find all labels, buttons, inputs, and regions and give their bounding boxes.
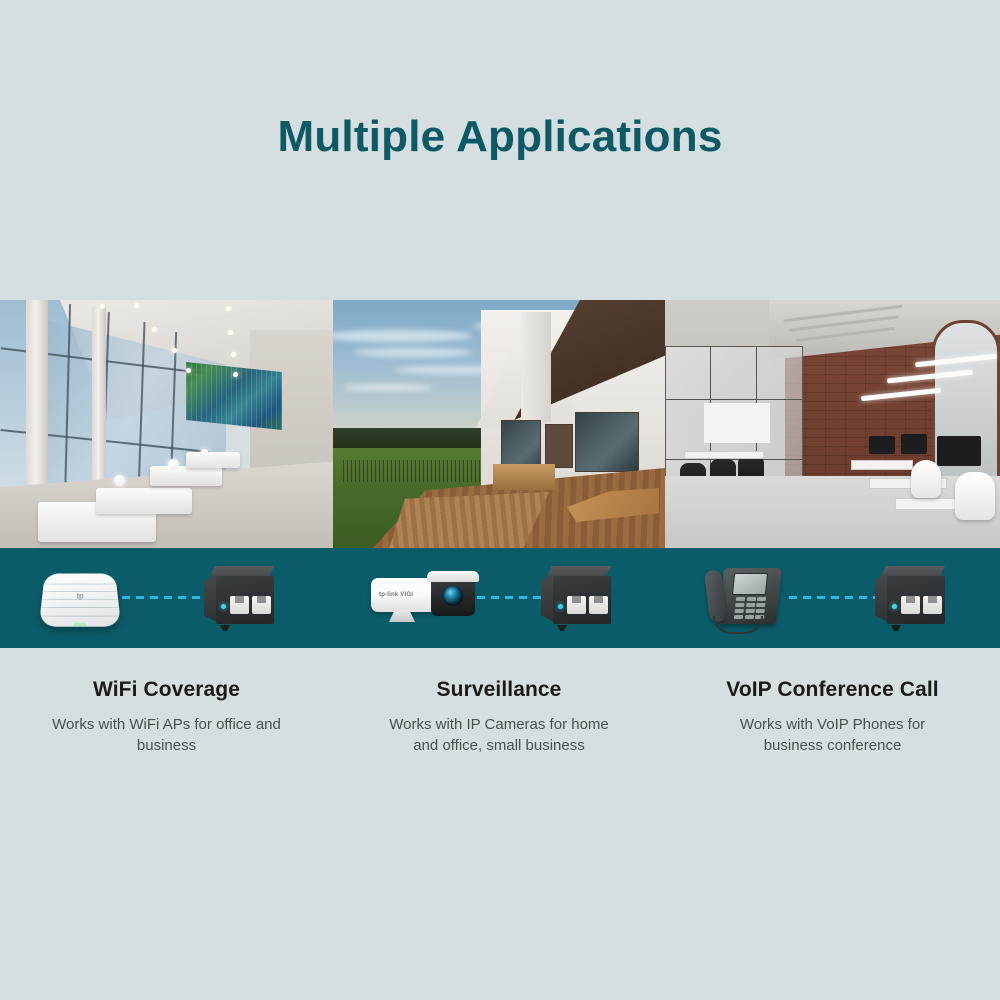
camera-sun-hood	[427, 571, 479, 582]
injector-front-face	[553, 576, 611, 624]
monitor	[901, 434, 927, 454]
bullet-ip-camera: tp-link VIGI	[371, 568, 481, 626]
glass-mullion	[666, 399, 802, 400]
office-chair	[955, 472, 995, 520]
application-photo-strip	[0, 300, 1000, 548]
caption-heading: WiFi Coverage	[0, 678, 333, 702]
ceiling-downlight	[233, 372, 238, 377]
door	[545, 424, 573, 468]
rj45-port	[923, 596, 942, 614]
photo-hotel-lobby-interior	[0, 300, 333, 548]
caption-voip-conference-call: VoIP Conference Call Works with VoIP Pho…	[665, 678, 1000, 756]
column	[26, 300, 48, 510]
tp-link-logo-icon: tp	[77, 591, 84, 600]
vigi-logo-icon: tp-link VIGI	[379, 592, 413, 598]
injector-front-face	[887, 576, 945, 624]
table-lamp	[168, 459, 179, 470]
cloud	[353, 348, 473, 357]
caption-surveillance: Surveillance Works with IP Cameras for h…	[333, 678, 665, 756]
caption-wifi-coverage: WiFi Coverage Works with WiFi APs for of…	[0, 678, 333, 756]
diagram-cell-surveillance: tp-link VIGI	[333, 548, 665, 648]
sofa	[150, 466, 222, 486]
workstation-desk	[851, 460, 913, 470]
photo-loft-office-interior	[665, 300, 1000, 548]
injector-power-led	[558, 604, 563, 609]
caption-heading: Surveillance	[333, 678, 665, 702]
cloud	[343, 384, 433, 391]
office-floor	[665, 476, 1000, 548]
sofa	[96, 488, 192, 514]
diagram-cell-voip	[665, 548, 1000, 648]
ceiling-downlight	[172, 348, 177, 353]
caption-heading: VoIP Conference Call	[665, 678, 1000, 702]
voip-desk-phone	[703, 562, 789, 634]
caption-description: Works with IP Cameras for home and offic…	[384, 714, 614, 756]
column	[92, 306, 106, 506]
ceiling-downlight	[186, 368, 191, 373]
ethernet-link	[789, 596, 875, 599]
ceiling-downlight	[100, 304, 105, 309]
office-chair	[911, 460, 941, 498]
table-lamp	[114, 475, 125, 486]
diagram-cell-wifi: tp	[0, 548, 333, 648]
poe-injector	[204, 566, 276, 626]
ethernet-link	[122, 596, 204, 599]
chimney	[521, 312, 551, 422]
ceiling-downlight	[134, 303, 139, 308]
monitor	[869, 436, 895, 454]
glass-mullion	[666, 459, 802, 460]
rj45-port	[230, 596, 249, 614]
rj45-port	[589, 596, 608, 614]
caption-row: WiFi Coverage Works with WiFi APs for of…	[0, 678, 1000, 756]
injector-foot	[557, 625, 567, 631]
monitor	[937, 436, 981, 466]
rj45-port	[901, 596, 920, 614]
injector-foot	[220, 625, 230, 631]
poe-injector	[541, 566, 613, 626]
meeting-table	[684, 451, 764, 459]
injector-power-led	[221, 604, 226, 609]
deck-step	[389, 492, 549, 548]
whiteboard	[704, 403, 770, 443]
table-lamp	[200, 449, 209, 458]
rj45-port	[252, 596, 271, 614]
caption-description: Works with WiFi APs for office and busin…	[52, 714, 282, 756]
phone-screen	[732, 573, 768, 595]
window	[575, 412, 639, 472]
rj45-port	[567, 596, 586, 614]
ceiling-downlight	[228, 330, 233, 335]
outdoor-table	[493, 464, 555, 490]
injector-front-face	[216, 576, 274, 624]
phone-cord	[713, 616, 763, 634]
injector-power-led	[892, 604, 897, 609]
ceiling-downlight	[231, 352, 236, 357]
arched-window	[932, 320, 1000, 496]
ap-status-led	[73, 623, 87, 626]
device-diagram-band: tp tp-link VIGI	[0, 548, 1000, 648]
caption-description: Works with VoIP Phones for business conf…	[718, 714, 948, 756]
ceiling-downlight	[152, 327, 157, 332]
photo-house-exterior-dusk	[333, 300, 665, 548]
poe-injector	[875, 566, 947, 626]
ceiling-downlight	[226, 306, 231, 311]
ceiling-wifi-access-point: tp	[42, 568, 118, 628]
injector-foot	[891, 625, 901, 631]
sofa	[186, 452, 240, 468]
page-title: Multiple Applications	[0, 112, 1000, 162]
camera-lens	[443, 586, 463, 606]
